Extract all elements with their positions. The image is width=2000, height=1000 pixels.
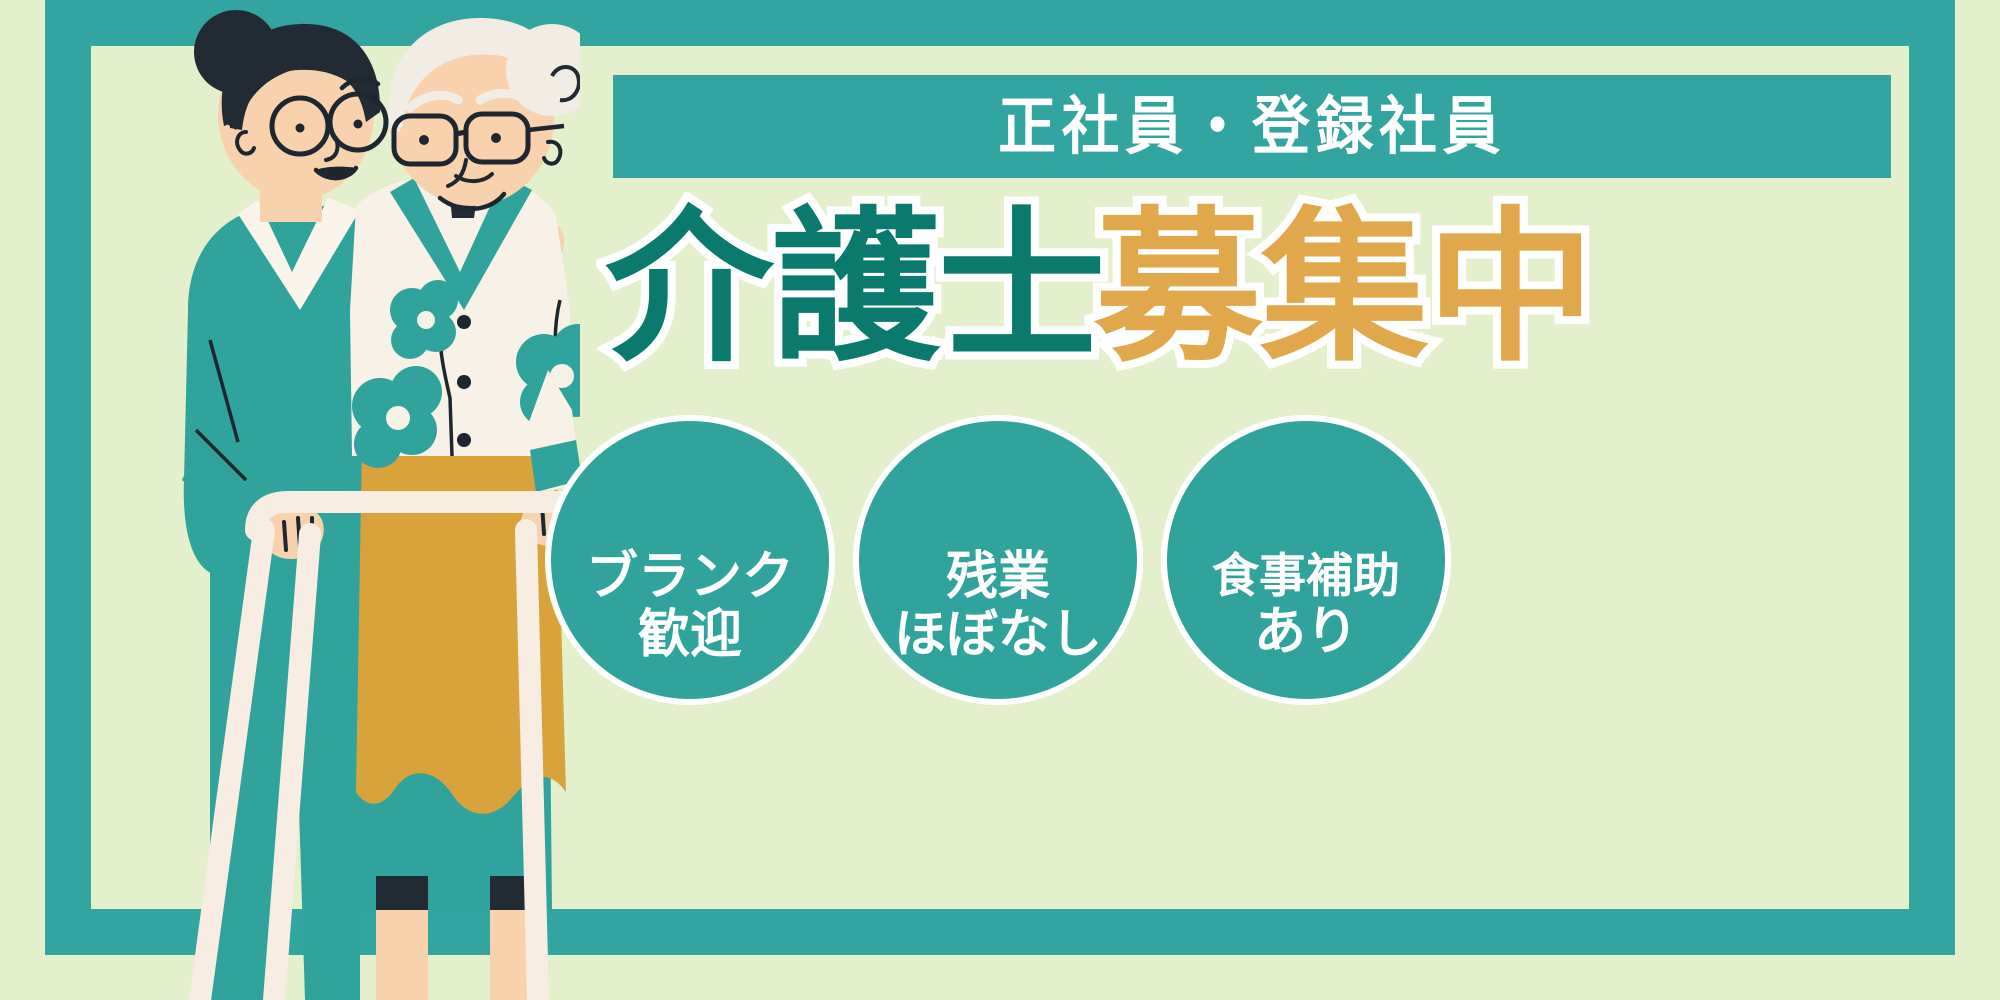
headline-segment-job-title: 介護士 [605,206,1104,371]
benefit-badge-line-1: 食事補助 [1212,551,1400,604]
benefit-badge-no-overtime: 残業 ほぼなし [853,415,1143,705]
employment-type-label: 正社員・登録社員 [998,95,1506,158]
benefit-badge-blank-welcome: ブランク 歓迎 [545,415,835,705]
benefit-badges: ブランク 歓迎 残業 ほぼなし 食事補助 あり [545,415,1905,1000]
headline-segment-now-hiring: 募集中 [1094,206,1593,371]
recruitment-banner: 正社員・登録社員 介護士募集中 ブランク 歓迎 残業 ほぼなし 食事補助 あり [0,0,2000,1000]
frame-right-border [1909,0,1955,955]
employment-type-chip: 正社員・登録社員 [613,75,1891,178]
benefit-badge-line-2: あり [1254,603,1358,661]
caregiver-illustration [60,10,580,1000]
benefit-badge-line-2: ほぼなし [894,606,1102,664]
benefit-badge-line-2: 歓迎 [638,606,742,664]
benefit-badge-meal-subsidy: 食事補助 あり [1161,415,1451,705]
benefit-badge-line-1: ブランク [586,548,794,606]
headline: 介護士募集中 [610,198,1900,378]
benefit-badge-line-1: 残業 [946,548,1050,606]
